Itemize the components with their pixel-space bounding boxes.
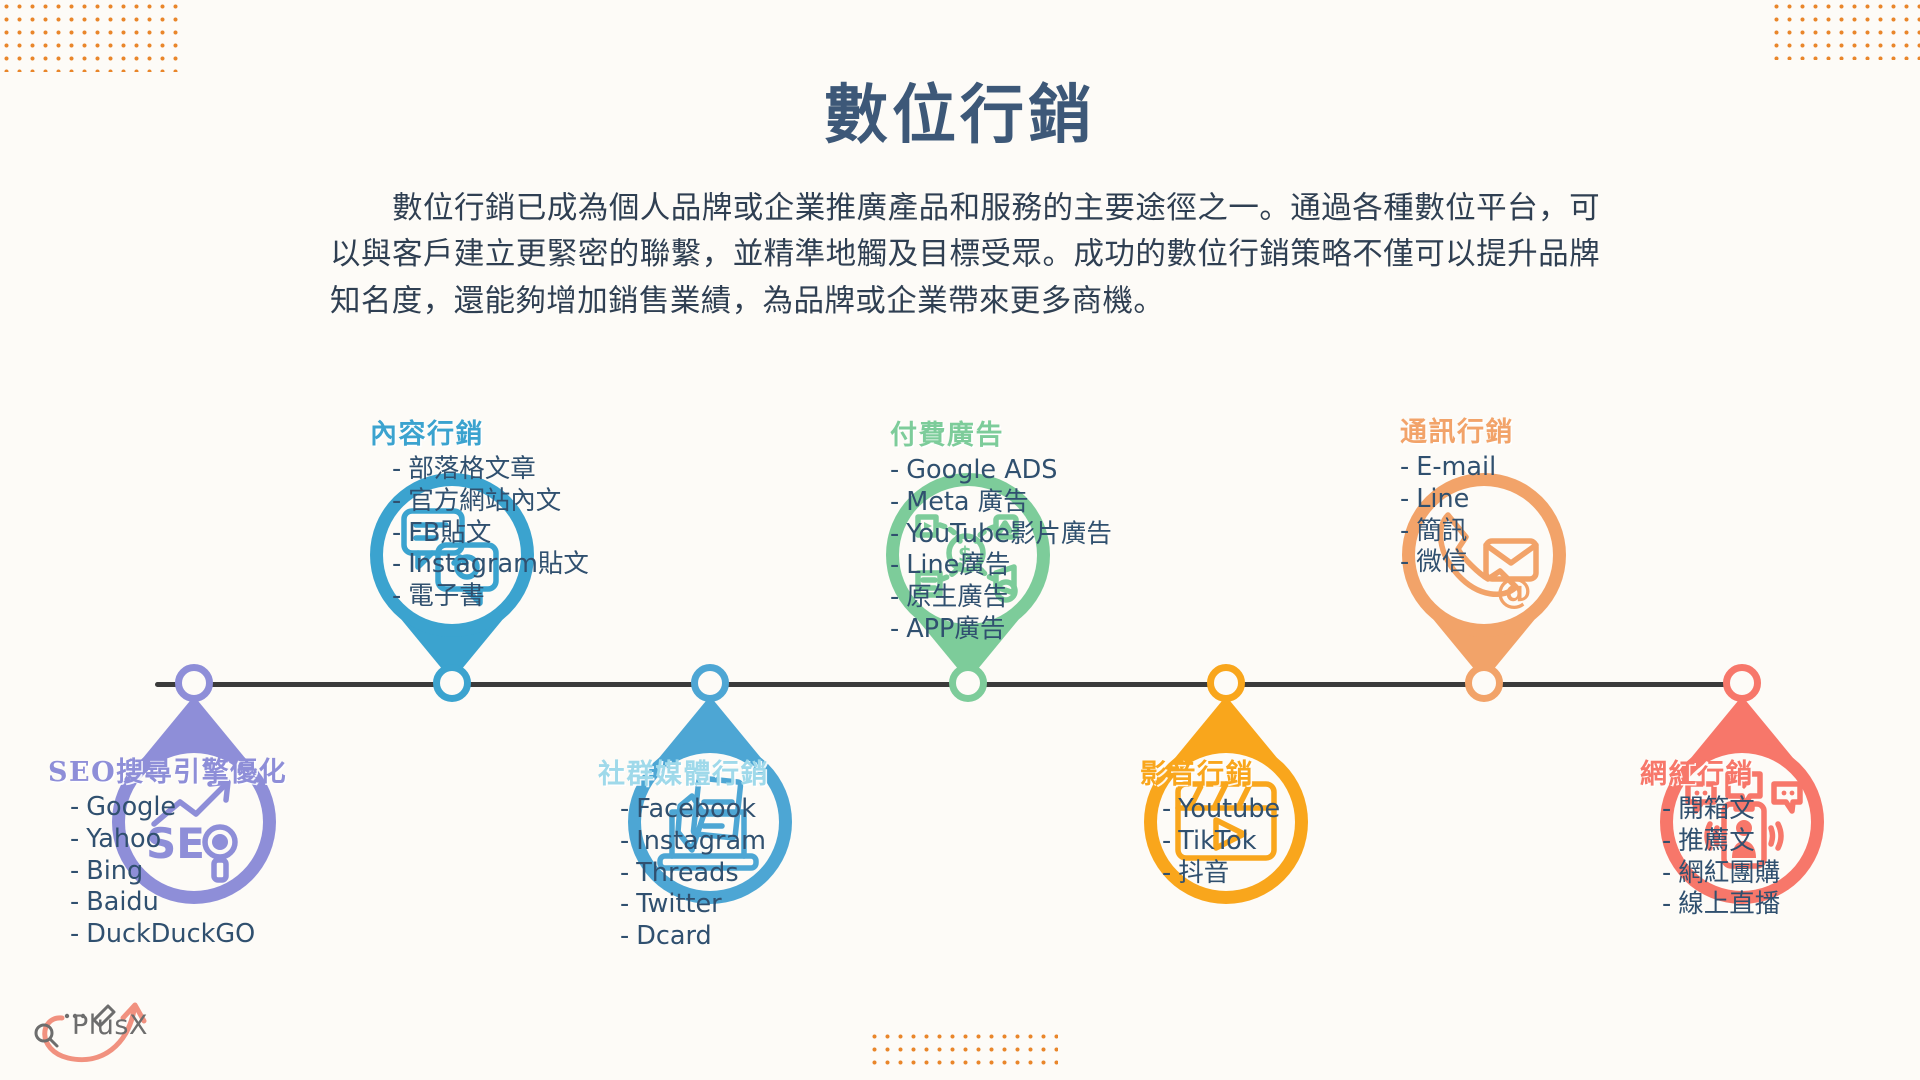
list-item-label: 電子書	[408, 581, 485, 611]
list-bullet-dash: -	[70, 856, 79, 886]
timeline-node-dot-seo[interactable]	[175, 664, 213, 702]
list-item: -Baidu	[70, 888, 287, 917]
list-item-label: Youtube	[1178, 794, 1280, 824]
list-item-label: E-mail	[1416, 452, 1496, 482]
info-block-list-video: -Youtube-TikTok-抖音	[1140, 795, 1280, 887]
info-block-list-influencer: -開箱文-推薦文-網紅團購-線上直播	[1640, 795, 1780, 919]
list-item: -官方網站內文	[392, 487, 589, 516]
list-item-label: 抖音	[1178, 858, 1229, 888]
info-block-title-messaging: 通訊行銷	[1400, 410, 1514, 449]
timeline-node-dot-content[interactable]	[433, 664, 471, 702]
info-block-list-seo: -Google-Yahoo-Bing-Baidu-DuckDuckGO	[48, 793, 287, 949]
timeline-node-dot-messaging[interactable]	[1465, 664, 1503, 702]
list-bullet-dash: -	[890, 519, 899, 549]
list-item: -Google	[70, 793, 287, 822]
list-bullet-dash: -	[70, 824, 79, 854]
list-item: -部落格文章	[392, 455, 589, 484]
info-block-seo: SEO搜尋引擎優化-Google-Yahoo-Bing-Baidu-DuckDu…	[48, 750, 287, 952]
dot-pattern-top-right	[1770, 0, 1920, 60]
list-item-label: Google ADS	[906, 455, 1057, 485]
list-bullet-dash: -	[70, 792, 79, 822]
info-block-list-social: -Facebook-Instagram-Threads-Twitter-Dcar…	[598, 795, 769, 951]
list-item: -FB貼文	[392, 519, 589, 548]
list-item-label: Bing	[86, 856, 143, 886]
info-block-social: 社群媒體行銷-Facebook-Instagram-Threads-Twitte…	[598, 752, 769, 954]
intro-paragraph: 數位行銷已成為個人品牌或企業推廣產品和服務的主要途徑之一。通過各種數位平台，可以…	[330, 186, 1600, 325]
list-item-label: 原生廣告	[906, 582, 1008, 612]
list-bullet-dash: -	[70, 887, 79, 917]
list-bullet-dash: -	[1400, 516, 1409, 546]
list-item: -線上直播	[1662, 890, 1780, 919]
list-item-label: Baidu	[86, 887, 159, 917]
list-item: -Instagram貼文	[392, 550, 589, 579]
list-bullet-dash: -	[620, 794, 629, 824]
list-bullet-dash: -	[392, 581, 401, 611]
list-item: -Twitter	[620, 890, 769, 919]
list-item: -APP廣告	[890, 615, 1112, 644]
list-item: -Line廣告	[890, 551, 1112, 580]
list-item-label: 微信	[1416, 547, 1467, 577]
list-item-label: APP廣告	[906, 614, 1005, 644]
list-item: -Google ADS	[890, 456, 1112, 485]
list-item: -開箱文	[1662, 795, 1780, 824]
list-item: -Instagram	[620, 827, 769, 856]
timeline-node-dot-paid-ads[interactable]	[949, 664, 987, 702]
list-bullet-dash: -	[1162, 858, 1171, 888]
list-item-label: TikTok	[1178, 826, 1256, 856]
list-item-label: 部落格文章	[408, 454, 536, 484]
list-item-label: Line廣告	[906, 550, 1010, 580]
list-bullet-dash: -	[620, 889, 629, 919]
list-item-label: Yahoo	[86, 824, 161, 854]
list-bullet-dash: -	[1400, 484, 1409, 514]
list-item: -Threads	[620, 859, 769, 888]
info-block-title-social: 社群媒體行銷	[598, 752, 769, 791]
list-item-label: YouTube影片廣告	[906, 519, 1112, 549]
list-item: -YouTube影片廣告	[890, 520, 1112, 549]
list-bullet-dash: -	[1662, 889, 1671, 919]
list-item-label: Facebook	[636, 794, 756, 824]
info-block-content: 內容行銷-部落格文章-官方網站內文-FB貼文-Instagram貼文-電子書	[370, 412, 589, 614]
list-bullet-dash: -	[1162, 794, 1171, 824]
list-item-label: Threads	[636, 858, 738, 888]
info-block-messaging: 通訊行銷-E-mail-Line-簡訊-微信	[1400, 410, 1514, 580]
list-item: -E-mail	[1400, 453, 1514, 482]
timeline-node-dot-social[interactable]	[691, 664, 729, 702]
info-block-title-seo: SEO搜尋引擎優化	[48, 750, 287, 789]
list-item: -微信	[1400, 548, 1514, 577]
info-block-title-paid-ads: 付費廣告	[890, 413, 1112, 452]
list-item-label: Dcard	[636, 921, 712, 951]
list-item-label: DuckDuckGO	[86, 919, 255, 949]
list-bullet-dash: -	[620, 858, 629, 888]
timeline-node-dot-influencer[interactable]	[1723, 664, 1761, 702]
list-bullet-dash: -	[1400, 452, 1409, 482]
list-bullet-dash: -	[1400, 547, 1409, 577]
list-bullet-dash: -	[392, 454, 401, 484]
list-bullet-dash: -	[1662, 858, 1671, 888]
list-bullet-dash: -	[1662, 794, 1671, 824]
info-block-influencer: 網紅行銷-開箱文-推薦文-網紅團購-線上直播	[1640, 752, 1780, 922]
list-item: -電子書	[392, 582, 589, 611]
info-block-list-messaging: -E-mail-Line-簡訊-微信	[1400, 453, 1514, 577]
timeline-node-dot-video[interactable]	[1207, 664, 1245, 702]
plusx-logo: PlusX	[22, 988, 172, 1068]
list-item-label: Line	[1416, 484, 1469, 514]
list-bullet-dash: -	[392, 549, 401, 579]
list-item: -Facebook	[620, 795, 769, 824]
plusx-logo-text: PlusX	[72, 1010, 148, 1041]
list-bullet-dash: -	[890, 582, 899, 612]
list-bullet-dash: -	[392, 486, 401, 516]
list-item-label: 網紅團購	[1678, 858, 1780, 888]
info-block-list-content: -部落格文章-官方網站內文-FB貼文-Instagram貼文-電子書	[370, 455, 589, 611]
list-item-label: 推薦文	[1678, 826, 1755, 856]
list-item: -網紅團購	[1662, 859, 1780, 888]
list-bullet-dash: -	[890, 614, 899, 644]
list-item: -推薦文	[1662, 827, 1780, 856]
info-block-video: 影音行銷-Youtube-TikTok-抖音	[1140, 752, 1280, 890]
info-block-paid-ads: 付費廣告-Google ADS-Meta 廣告-YouTube影片廣告-Line…	[890, 413, 1112, 647]
list-item: -Dcard	[620, 922, 769, 951]
list-item-label: 簡訊	[1416, 516, 1467, 546]
list-item-label: Google	[86, 792, 176, 822]
list-bullet-dash: -	[1662, 826, 1671, 856]
info-block-list-paid-ads: -Google ADS-Meta 廣告-YouTube影片廣告-Line廣告-原…	[890, 456, 1112, 644]
info-block-title-video: 影音行銷	[1140, 752, 1280, 791]
list-item-label: 官方網站內文	[408, 486, 561, 516]
list-bullet-dash: -	[620, 921, 629, 951]
list-item: -Yahoo	[70, 825, 287, 854]
list-item: -簡訊	[1400, 517, 1514, 546]
list-item: -DuckDuckGO	[70, 920, 287, 949]
list-item: -Bing	[70, 857, 287, 886]
list-item-label: Meta 廣告	[906, 487, 1028, 517]
list-item: -Youtube	[1162, 795, 1280, 824]
list-bullet-dash: -	[70, 919, 79, 949]
list-item-label: 線上直播	[1678, 889, 1780, 919]
list-item: -Line	[1400, 485, 1514, 514]
list-item: -TikTok	[1162, 827, 1280, 856]
page-title: 數位行銷	[0, 64, 1920, 156]
list-bullet-dash: -	[620, 826, 629, 856]
list-bullet-dash: -	[890, 550, 899, 580]
list-item-label: FB貼文	[408, 518, 491, 548]
list-item-label: 開箱文	[1678, 794, 1755, 824]
list-item-label: Instagram貼文	[408, 549, 589, 579]
info-block-title-content: 內容行銷	[370, 412, 589, 451]
list-item-label: Instagram	[636, 826, 766, 856]
list-bullet-dash: -	[890, 455, 899, 485]
dot-pattern-bottom-center	[868, 1030, 1058, 1072]
list-item: -Meta 廣告	[890, 488, 1112, 517]
info-block-title-influencer: 網紅行銷	[1640, 752, 1780, 791]
list-bullet-dash: -	[890, 487, 899, 517]
list-bullet-dash: -	[392, 518, 401, 548]
list-item: -原生廣告	[890, 583, 1112, 612]
list-item: -抖音	[1162, 859, 1280, 888]
dot-pattern-top-left	[0, 0, 185, 72]
list-item-label: Twitter	[636, 889, 721, 919]
list-bullet-dash: -	[1162, 826, 1171, 856]
